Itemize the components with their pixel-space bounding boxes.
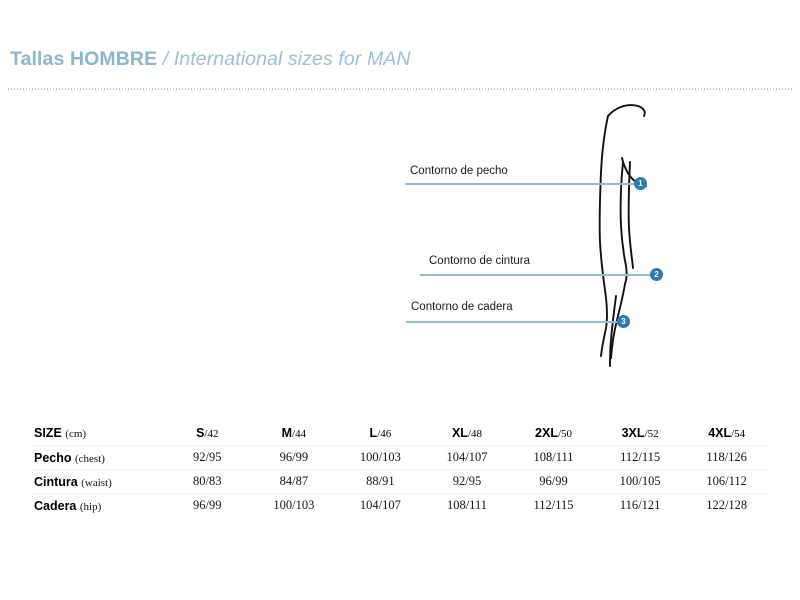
row-label-hip: Cadera (hip) [30, 494, 164, 518]
sizes-table: SIZE (cm) S/42 M/44 L/46 XL/48 2XL/50 3X… [30, 420, 770, 517]
row-label-waist-es: Cintura [34, 475, 78, 489]
callout-label-hip: Contorno de cadera [411, 301, 513, 313]
cell-hip-xl: 108/111 [424, 494, 511, 518]
table-corner-header: SIZE (cm) [30, 420, 164, 446]
corner-unit: (cm) [65, 428, 86, 440]
cell-chest-4xl: 118/126 [683, 446, 770, 470]
column-euro-2xl: /50 [558, 428, 572, 440]
cell-waist-m: 84/87 [251, 470, 338, 494]
cell-waist-xl: 92/95 [424, 470, 511, 494]
cell-chest-xl: 104/107 [424, 446, 511, 470]
column-euro-4xl: /54 [731, 428, 745, 440]
header-divider [8, 88, 792, 90]
cell-hip-s: 96/99 [164, 494, 251, 518]
column-size-xl: XL [452, 426, 468, 440]
page-title-subtitle: International sizes for MAN [174, 48, 411, 70]
column-size-4xl: 4XL [708, 426, 731, 440]
column-header-l: L/46 [337, 420, 424, 446]
column-header-4xl: 4XL/54 [683, 420, 770, 446]
column-header-m: M/44 [251, 420, 338, 446]
marker-3-hip: 3 [617, 315, 630, 328]
column-euro-m: /44 [292, 428, 306, 440]
male-torso-illustration [560, 100, 680, 370]
column-size-3xl: 3XL [622, 426, 645, 440]
column-euro-s: /42 [204, 428, 218, 440]
page-title-main: Tallas HOMBRE [10, 48, 157, 70]
cell-waist-4xl: 106/112 [683, 470, 770, 494]
cell-hip-4xl: 122/128 [683, 494, 770, 518]
column-size-m: M [282, 426, 292, 440]
corner-label: SIZE [34, 426, 62, 440]
table-header-row: SIZE (cm) S/42 M/44 L/46 XL/48 2XL/50 3X… [30, 420, 770, 446]
column-euro-3xl: /52 [645, 428, 659, 440]
table-row: Cadera (hip) 96/99 100/103 104/107 108/1… [30, 494, 770, 518]
cell-chest-2xl: 108/111 [510, 446, 597, 470]
column-header-xl: XL/48 [424, 420, 511, 446]
cell-hip-3xl: 116/121 [597, 494, 684, 518]
row-label-chest-es: Pecho [34, 451, 72, 465]
cell-hip-2xl: 112/115 [510, 494, 597, 518]
cell-chest-m: 96/99 [251, 446, 338, 470]
cell-chest-s: 92/95 [164, 446, 251, 470]
column-euro-l: /46 [377, 428, 391, 440]
cell-waist-2xl: 96/99 [510, 470, 597, 494]
marker-1-chest: 1 [634, 177, 647, 190]
row-label-hip-en: (hip) [80, 501, 101, 513]
row-label-waist: Cintura (waist) [30, 470, 164, 494]
row-label-waist-en: (waist) [81, 477, 112, 489]
column-euro-xl: /48 [468, 428, 482, 440]
cell-waist-3xl: 100/105 [597, 470, 684, 494]
column-header-2xl: 2XL/50 [510, 420, 597, 446]
cell-hip-m: 100/103 [251, 494, 338, 518]
cell-chest-l: 100/103 [337, 446, 424, 470]
body-measurement-diagram: Contorno de pecho 1 Contorno de cintura … [0, 100, 800, 390]
page-title-separator: / [157, 48, 174, 70]
leader-line-chest [405, 183, 641, 185]
table-row: Pecho (chest) 92/95 96/99 100/103 104/10… [30, 446, 770, 470]
size-chart-table: SIZE (cm) S/42 M/44 L/46 XL/48 2XL/50 3X… [0, 420, 800, 517]
row-label-chest-en: (chest) [75, 453, 105, 465]
marker-2-waist: 2 [650, 268, 663, 281]
cell-waist-l: 88/91 [337, 470, 424, 494]
callout-label-waist: Contorno de cintura [429, 255, 530, 267]
cell-chest-3xl: 112/115 [597, 446, 684, 470]
leader-line-hip [406, 321, 619, 323]
row-label-chest: Pecho (chest) [30, 446, 164, 470]
row-label-hip-es: Cadera [34, 499, 76, 513]
table-row: Cintura (waist) 80/83 84/87 88/91 92/95 … [30, 470, 770, 494]
column-size-2xl: 2XL [535, 426, 558, 440]
leader-line-waist [420, 274, 652, 276]
cell-hip-l: 104/107 [337, 494, 424, 518]
cell-waist-s: 80/83 [164, 470, 251, 494]
callout-label-chest: Contorno de pecho [410, 165, 508, 177]
column-header-s: S/42 [164, 420, 251, 446]
column-header-3xl: 3XL/52 [597, 420, 684, 446]
page-title: Tallas HOMBRE / International sizes for … [10, 46, 411, 72]
